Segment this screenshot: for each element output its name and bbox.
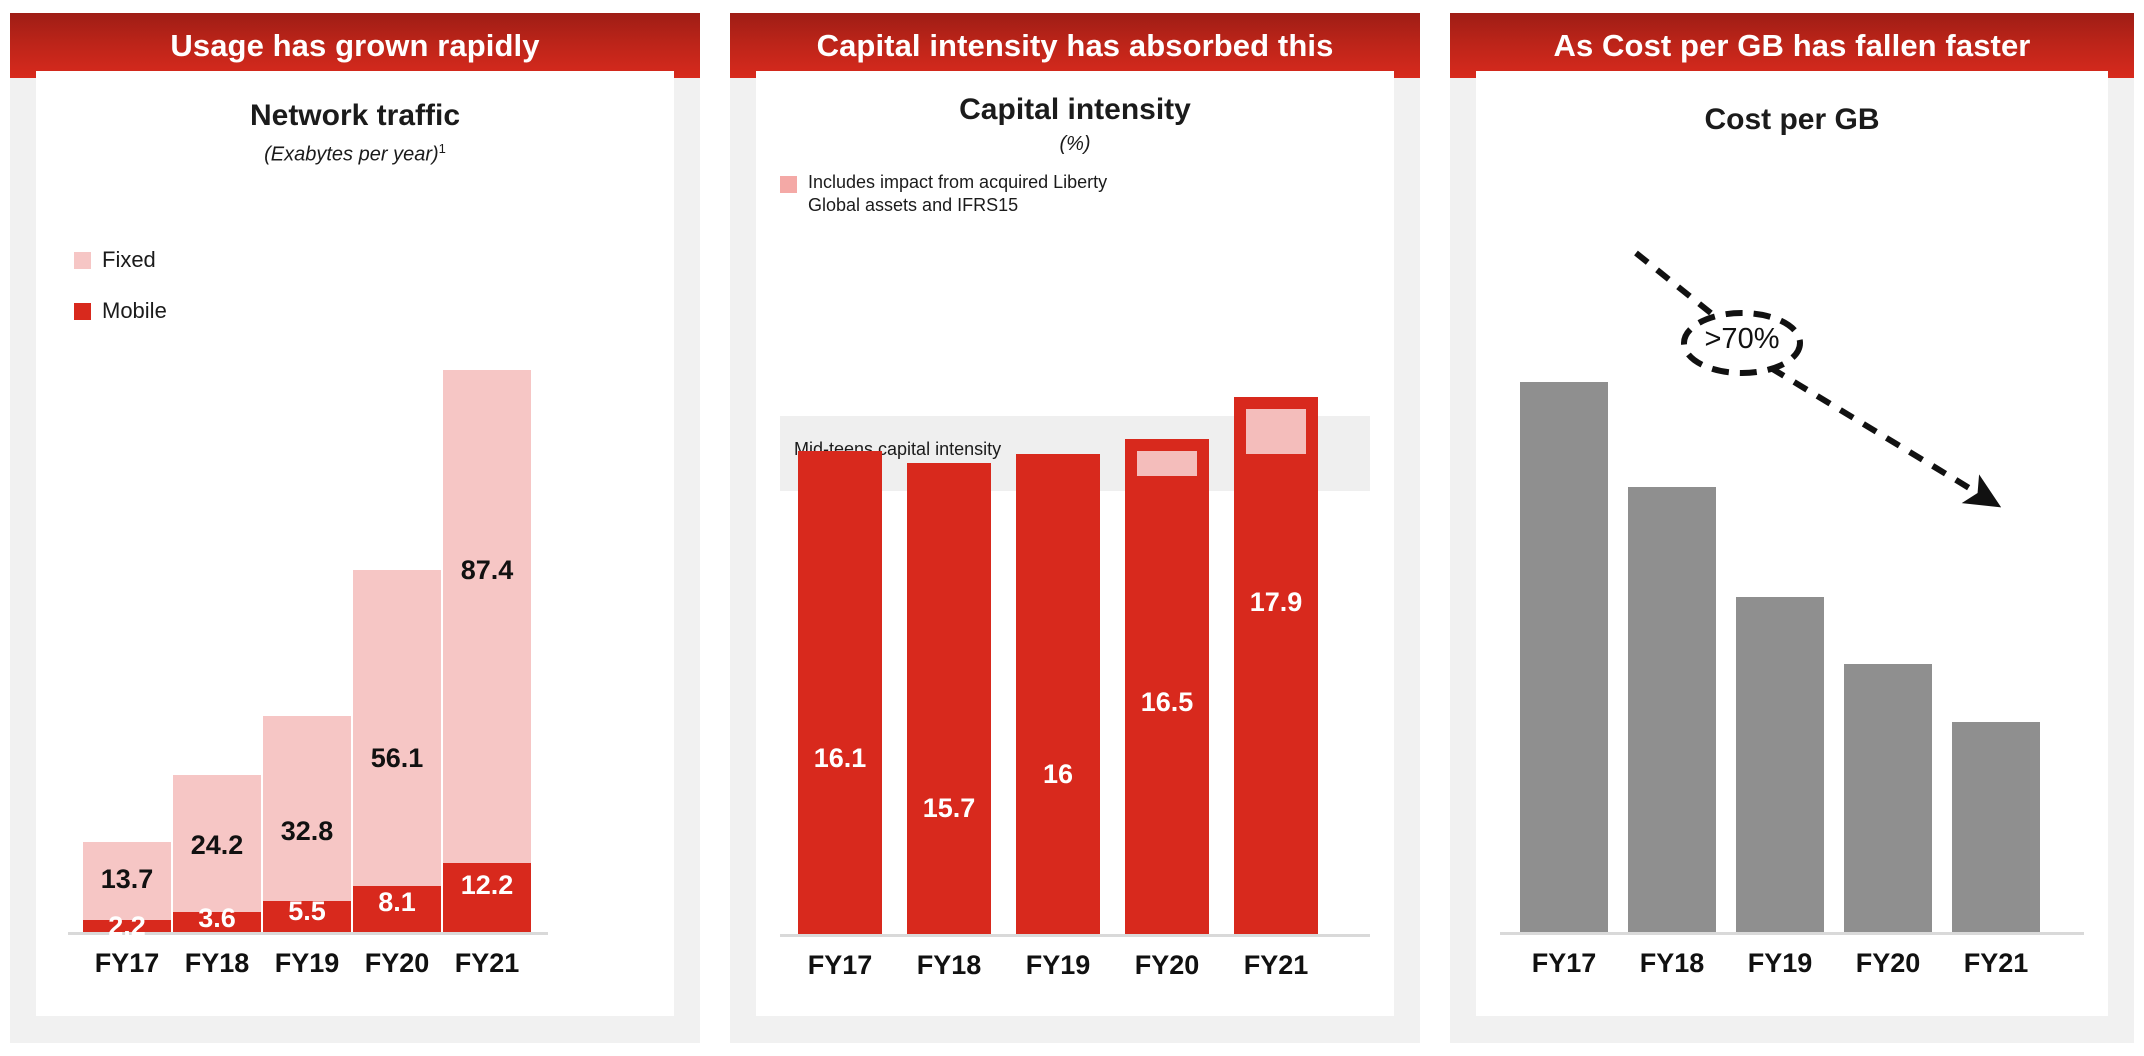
x-label-fy19: FY19 <box>1016 950 1100 981</box>
bar-fy18[interactable] <box>1628 487 1716 932</box>
bar-fy18[interactable]: 24.2 3.6 <box>173 775 261 932</box>
plot-area-cost-per-gb: >70% FY17 FY18 FY19 FY20 FY21 <box>1476 71 2108 1016</box>
value-label-fy21: 17.9 <box>1234 587 1318 618</box>
bar-fy17[interactable]: 13.7 2.2 <box>83 842 171 932</box>
x-label-fy19: FY19 <box>263 948 351 979</box>
value-label-fy18-fixed: 24.2 <box>173 830 261 861</box>
panel-cost-per-gb: As Cost per GB has fallen faster Cost pe… <box>1450 13 2134 1043</box>
panel-header-capital-intensity: Capital intensity has absorbed this <box>730 13 1420 78</box>
panel-header-title: Usage has grown rapidly <box>170 28 539 64</box>
x-axis-line <box>1500 932 2084 935</box>
chart-card-network-traffic: Network traffic (Exabytes per year)1 Fix… <box>36 71 674 1016</box>
x-label-fy17: FY17 <box>1520 948 1608 979</box>
overlay-liberty-fy20 <box>1133 447 1201 480</box>
x-label-fy18: FY18 <box>907 950 991 981</box>
bar-fy21[interactable]: 87.4 12.2 <box>443 370 531 932</box>
plot-area-capital-intensity: Mid-teens capital intensity 16.1 15.7 16… <box>756 71 1394 1016</box>
panel-header-usage: Usage has grown rapidly <box>10 13 700 78</box>
panel-header-title: Capital intensity has absorbed this <box>817 28 1334 64</box>
x-label-fy18: FY18 <box>173 948 261 979</box>
panel-header-cost-per-gb: As Cost per GB has fallen faster <box>1450 13 2134 78</box>
panel-usage: Usage has grown rapidly Network traffic … <box>10 13 700 1043</box>
trend-arrow-segment-upper <box>1636 253 1712 314</box>
x-label-fy21: FY21 <box>443 948 531 979</box>
x-label-fy21: FY21 <box>1952 948 2040 979</box>
bar-fy18[interactable]: 15.7 <box>907 463 991 934</box>
plot-area-network-traffic: 13.7 2.2 24.2 3.6 32.8 5.5 <box>36 71 674 1016</box>
bar-fy21-fixed <box>443 370 531 932</box>
x-label-fy20: FY20 <box>1125 950 1209 981</box>
bar-fy20[interactable]: 16.5 <box>1125 439 1209 934</box>
value-label-fy18: 15.7 <box>907 793 991 824</box>
callout-label-70-percent: >70% <box>1684 323 1800 356</box>
x-label-fy21: FY21 <box>1234 950 1318 981</box>
value-label-fy21-fixed: 87.4 <box>443 555 531 586</box>
x-label-fy20: FY20 <box>353 948 441 979</box>
x-label-fy19: FY19 <box>1736 948 1824 979</box>
bar-fy17[interactable]: 16.1 <box>798 451 882 934</box>
x-axis-line <box>780 934 1370 937</box>
x-label-fy18: FY18 <box>1628 948 1716 979</box>
overlay-liberty-fy21 <box>1242 405 1310 458</box>
value-label-fy21-mobile: 12.2 <box>443 870 531 901</box>
panel-header-title: As Cost per GB has fallen faster <box>1554 28 2031 64</box>
bar-fy19[interactable] <box>1736 597 1824 932</box>
bar-fy19[interactable]: 16 <box>1016 454 1100 934</box>
value-label-fy19-fixed: 32.8 <box>263 816 351 847</box>
value-label-fy19: 16 <box>1016 759 1100 790</box>
value-label-fy17: 16.1 <box>798 743 882 774</box>
chart-card-capital-intensity: Capital intensity (%) Includes impact fr… <box>756 71 1394 1016</box>
bar-fy20[interactable]: 56.1 8.1 <box>353 570 441 932</box>
trend-arrow-segment-lower <box>1771 368 1994 503</box>
slide-canvas: Usage has grown rapidly Network traffic … <box>0 0 2144 1056</box>
panel-capital-intensity: Capital intensity has absorbed this Capi… <box>730 13 1420 1043</box>
value-label-fy20: 16.5 <box>1125 687 1209 718</box>
bar-fy21[interactable]: 17.9 <box>1234 397 1318 934</box>
x-label-fy17: FY17 <box>83 948 171 979</box>
x-label-fy17: FY17 <box>798 950 882 981</box>
bar-fy17[interactable] <box>1520 382 1608 932</box>
value-label-fy18-mobile: 3.6 <box>173 903 261 934</box>
value-label-fy17-fixed: 13.7 <box>83 864 171 895</box>
value-label-fy17-mobile: 2.2 <box>83 911 171 942</box>
x-label-fy20: FY20 <box>1844 948 1932 979</box>
value-label-fy19-mobile: 5.5 <box>263 896 351 927</box>
bar-fy21[interactable] <box>1952 722 2040 932</box>
value-label-fy20-mobile: 8.1 <box>353 887 441 918</box>
value-label-fy20-fixed: 56.1 <box>353 743 441 774</box>
bar-fy20[interactable] <box>1844 664 1932 932</box>
chart-card-cost-per-gb: Cost per GB <box>1476 71 2108 1016</box>
bar-fy19[interactable]: 32.8 5.5 <box>263 716 351 932</box>
